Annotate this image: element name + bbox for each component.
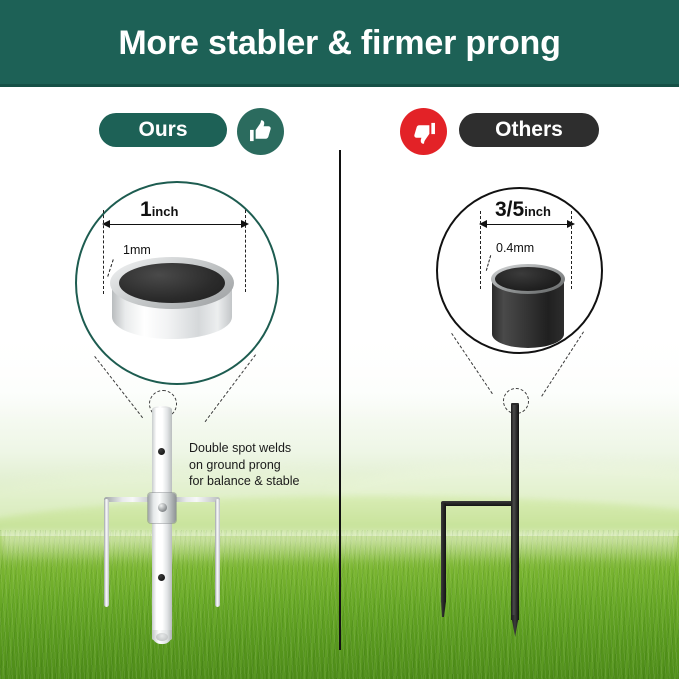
others-badge-label: Others <box>495 118 563 142</box>
others-tube-illustration <box>491 264 565 352</box>
others-badge: Others <box>459 113 599 147</box>
thumbs-down-icon <box>400 108 447 155</box>
spot-weld-note: Double spot welds on ground prong for ba… <box>189 440 300 490</box>
others-prong-leg <box>441 503 446 603</box>
others-diameter-label: 3/5inch <box>495 198 551 222</box>
ours-badge-group: Ours <box>99 108 289 164</box>
ours-magnifier-circle: 1inch 1mm <box>75 181 279 385</box>
page-title: More stabler & firmer prong <box>0 17 679 69</box>
ours-badge-label: Ours <box>138 118 187 142</box>
ours-pole-bottom-bore <box>156 633 168 641</box>
ours-diameter-label: 1inch <box>140 198 178 222</box>
ours-prong-right-leg <box>215 499 220 607</box>
ours-prong-left-leg <box>104 499 109 607</box>
ours-pole <box>152 408 172 640</box>
others-wall-thickness-label: 0.4mm <box>496 241 534 255</box>
banner-underline <box>0 84 679 87</box>
ours-lower-hole <box>158 574 165 581</box>
ours-wall-thickness-label: 1mm <box>123 243 151 257</box>
others-tube-bore <box>495 267 561 291</box>
thumbs-up-icon <box>237 108 284 155</box>
others-arrow-head-right <box>567 220 575 228</box>
ours-arrow-head-right <box>241 220 249 228</box>
center-divider <box>339 150 341 650</box>
ours-dimension-arrow <box>107 224 243 225</box>
others-badge-group: Others <box>400 108 610 164</box>
ours-collar-bolt <box>158 503 167 512</box>
ours-upper-hole <box>158 448 165 455</box>
ours-arrow-head-left <box>102 220 110 228</box>
others-dimension-arrow <box>484 224 569 225</box>
infographic-canvas: More stabler & firmer prong Ours <box>0 0 679 679</box>
ours-tube-bore <box>119 263 225 303</box>
others-arrow-head-left <box>479 220 487 228</box>
others-stake <box>511 405 519 620</box>
others-magnifier-circle: 3/5inch 0.4mm <box>436 187 603 354</box>
ours-badge: Ours <box>99 113 227 147</box>
others-prong-arm <box>441 501 515 506</box>
ours-tube-illustration <box>110 257 234 345</box>
